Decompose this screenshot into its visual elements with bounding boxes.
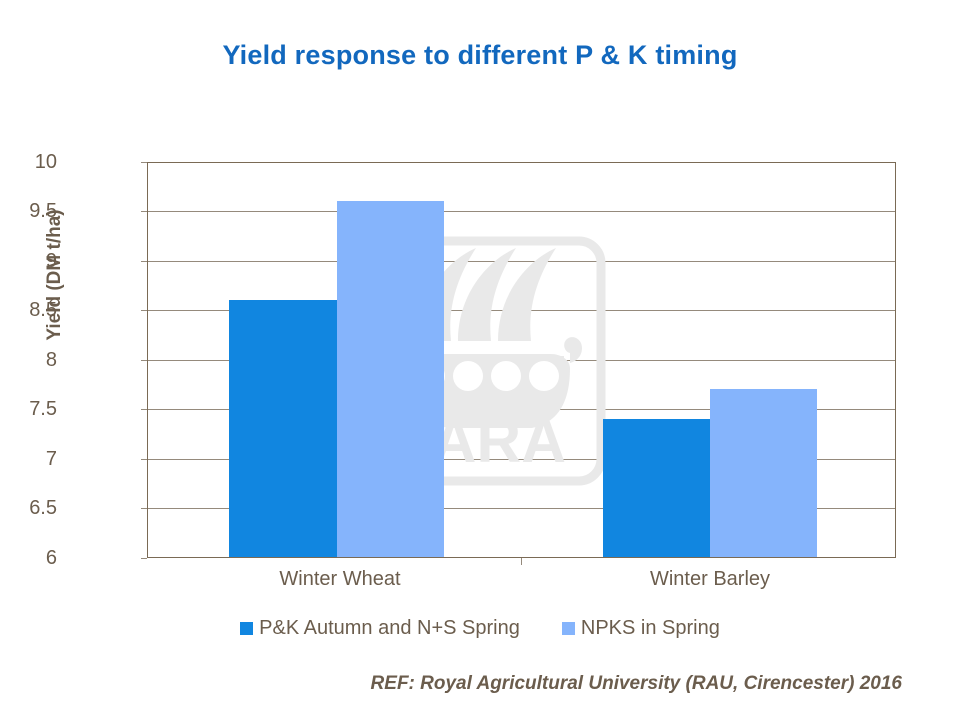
page-title: Yield response to different P & K timing (0, 40, 960, 71)
x-category-label-winter-wheat: Winter Wheat (240, 568, 440, 591)
y-tick-label-7-5: 7.5 (0, 399, 57, 419)
y-tick-label-7: 7 (0, 449, 57, 469)
y-tick-mark-6 (141, 558, 147, 559)
legend-swatch-icon-npks-spring (562, 622, 575, 635)
legend-label-pk-autumn: P&K Autumn and N+S Spring (259, 617, 520, 640)
reference-note: REF: Royal Agricultural University (RAU,… (371, 673, 902, 695)
chart-legend: P&K Autumn and N+S Spring NPKS in Spring (0, 617, 960, 640)
legend-item-npks-spring[interactable]: NPKS in Spring (562, 617, 720, 640)
gridline-9-5 (148, 211, 895, 212)
x-category-label-winter-barley: Winter Barley (610, 568, 810, 591)
y-tick-label-6: 6 (0, 548, 57, 568)
legend-label-npks-spring: NPKS in Spring (581, 617, 720, 640)
y-tick-label-6-5: 6.5 (0, 498, 57, 518)
y-tick-label-10: 10 (0, 152, 57, 172)
y-tick-label-8: 8 (0, 350, 57, 370)
plot-area (147, 162, 896, 558)
x-axis-mid-tick (521, 558, 522, 565)
bar-winter-wheat-pk-autumn[interactable] (229, 300, 337, 557)
y-tick-label-9: 9 (0, 251, 57, 271)
bar-winter-barley-npks-spring[interactable] (710, 389, 817, 557)
gridline-9 (148, 261, 895, 262)
y-tick-label-8-5: 8.5 (0, 300, 57, 320)
chart-slide: Yield response to different P & K timing… (0, 0, 960, 720)
bar-winter-wheat-npks-spring[interactable] (337, 201, 444, 557)
y-tick-label-9-5: 9.5 (0, 201, 57, 221)
legend-item-pk-autumn[interactable]: P&K Autumn and N+S Spring (240, 617, 520, 640)
legend-swatch-icon-pk-autumn (240, 622, 253, 635)
bar-winter-barley-pk-autumn[interactable] (603, 419, 710, 557)
